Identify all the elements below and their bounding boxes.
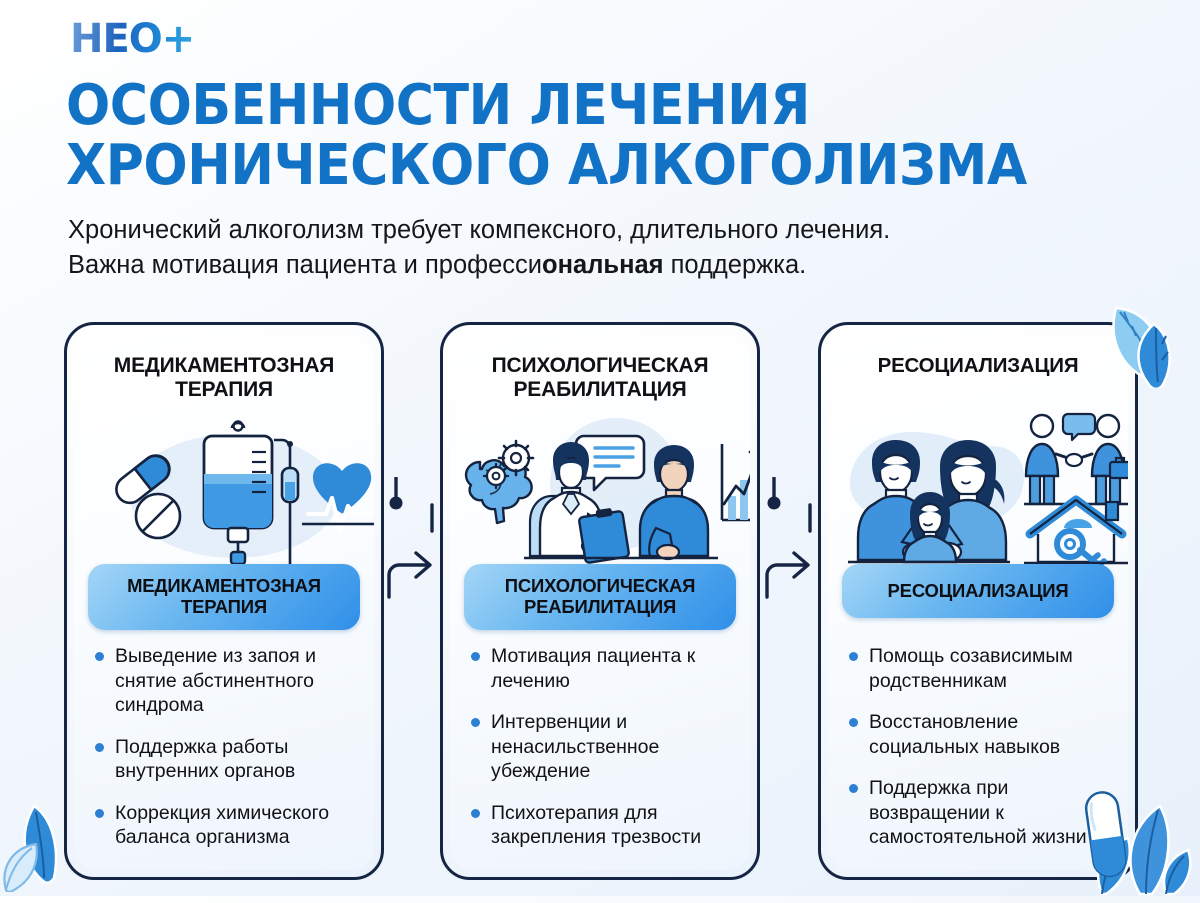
arrow-card1-to-card2: [384, 477, 442, 612]
house-key-icon: [1024, 500, 1128, 568]
bullet-list-resocialization: Помощь созависимым родственникам Восстан…: [848, 644, 1116, 867]
brand-logo: НЕО+: [70, 16, 194, 62]
list-item: Психотерапия для закрепления трезвости: [470, 801, 738, 850]
badge-resocialization[interactable]: РЕСОЦИАЛИЗАЦИЯ: [842, 564, 1114, 618]
card-medication-inner: МЕДИКАМЕНТОЗНАЯ ТЕРАПИЯ: [74, 332, 374, 870]
list-item: Выведение из запоя и снятие абстинентног…: [94, 644, 362, 718]
gear-icon-large: [499, 441, 533, 475]
resocialization-illustration-svg: [834, 410, 1128, 570]
bullet-list-psychological: Мотивация пациента к лечению Интервенции…: [470, 644, 738, 867]
card-psychological-rehabilitation[interactable]: ПСИХОЛОГИЧЕСКАЯ РЕАБИЛИТАЦИЯ: [440, 322, 760, 880]
illustration-family-society: [834, 410, 1122, 570]
card-medication-therapy[interactable]: МЕДИКАМЕНТОЗНАЯ ТЕРАПИЯ: [64, 322, 384, 880]
medication-illustration-svg: [80, 410, 374, 570]
card-psychological-inner: ПСИХОЛОГИЧЕСКАЯ РЕАБИЛИТАЦИЯ: [450, 332, 750, 870]
subtitle-part-c: поддержка.: [664, 251, 807, 279]
connector-arrow-icon-2: [762, 477, 820, 607]
list-item: Поддержка работы внутренних органов: [94, 735, 362, 784]
list-item: Коррекция химического баланса организма: [94, 801, 362, 850]
page-title-line-1: ОСОБЕННОСТИ ЛЕЧЕНИЯ: [66, 76, 1080, 136]
handshake-group-icon: [1024, 414, 1128, 504]
treatment-stages-row: МЕДИКАМЕНТОЗНАЯ ТЕРАПИЯ: [0, 322, 1200, 882]
page-title-line-2: ХРОНИЧЕСКОГО АЛКОГОЛИЗМА: [66, 136, 1080, 196]
brain-gears-icon: [466, 441, 533, 523]
page-subtitle: Хронический алкоголизм требует компексно…: [68, 213, 1128, 282]
list-item: Поддержка при возвращении к самостоятель…: [848, 776, 1116, 850]
clipboard-icon: [579, 508, 630, 563]
arrow-card2-to-card3: [762, 477, 820, 612]
page-subtitle-line-1: Хронический алкоголизм требует компексно…: [68, 213, 1128, 248]
illustration-therapy-session: [456, 410, 744, 570]
psychological-illustration-svg: [456, 410, 750, 570]
list-item: Интервенции и ненасильственное убеждение: [470, 710, 738, 784]
page-subtitle-line-2: Важна мотивация пациента и профессиональ…: [68, 248, 1128, 283]
bullet-list-medication: Выведение из запоя и снятие абстинентног…: [94, 644, 362, 867]
subtitle-part-bold: ональная: [542, 251, 664, 279]
page-title: ОСОБЕННОСТИ ЛЕЧЕНИЯ ХРОНИЧЕСКОГО АЛКОГОЛ…: [66, 76, 1080, 196]
badge-psychological-rehabilitation[interactable]: ПСИХОЛОГИЧЕСКАЯ РЕАБИЛИТАЦИЯ: [464, 564, 736, 630]
card-resocialization-inner: РЕСОЦИАЛИЗАЦИЯ: [828, 332, 1128, 870]
list-item: Помощь созависимым родственникам: [848, 644, 1116, 693]
card-resocialization[interactable]: РЕСОЦИАЛИЗАЦИЯ: [818, 322, 1138, 880]
card-psychological-title: ПСИХОЛОГИЧЕСКАЯ РЕАБИЛИТАЦИЯ: [462, 354, 738, 403]
tablet-icon: [136, 494, 180, 538]
illustration-iv-drip-pills-heart: [80, 410, 368, 570]
list-item: Мотивация пациента к лечению: [470, 644, 738, 693]
card-resocialization-title: РЕСОЦИАЛИЗАЦИЯ: [840, 354, 1116, 378]
badge-medication-therapy[interactable]: МЕДИКАМЕНТОЗНАЯ ТЕРАПИЯ: [88, 564, 360, 630]
list-item: Восстановление социальных навыков: [848, 710, 1116, 759]
card-medication-title: МЕДИКАМЕНТОЗНАЯ ТЕРАПИЯ: [86, 354, 362, 403]
connector-arrow-icon-1: [384, 477, 442, 607]
subtitle-part-a: Важна мотивация пациента и професси: [68, 251, 542, 279]
growth-chart-icon: [722, 444, 750, 520]
